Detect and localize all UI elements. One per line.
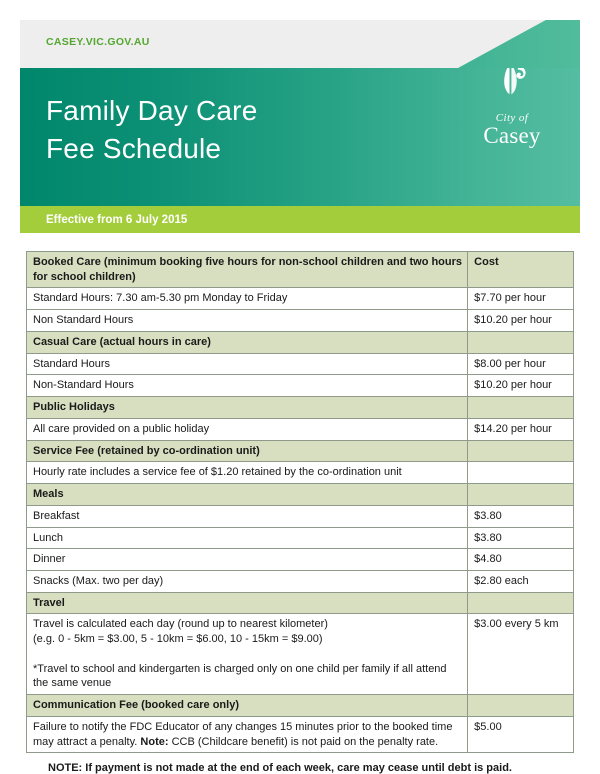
table-row: Standard Hours$8.00 per hour — [27, 353, 574, 375]
fee-table-wrapper: Booked Care (minimum booking five hours … — [20, 233, 580, 753]
table-cell-cost: $4.80 — [468, 549, 574, 571]
table-cell-cost: $7.70 per hour — [468, 288, 574, 310]
effective-date-bar: Effective from 6 July 2015 — [20, 206, 580, 233]
table-row: All care provided on a public holiday$14… — [27, 418, 574, 440]
banner-diagonal-wedge — [458, 20, 580, 68]
table-cell-cost: Cost — [468, 252, 574, 288]
table-section-row: Meals — [27, 484, 574, 506]
table-cell-cost: $10.20 per hour — [468, 375, 574, 397]
table-cell-cost: $10.20 per hour — [468, 310, 574, 332]
table-cell-description: Travel is calculated each day (round up … — [27, 614, 468, 695]
cell-text-part2: CCB (Childcare benefit) is not paid on t… — [169, 736, 439, 748]
table-row: Lunch$3.80 — [27, 527, 574, 549]
table-cell-cost — [468, 484, 574, 506]
table-row: Hourly rate includes a service fee of $1… — [27, 462, 574, 484]
table-cell-cost: $3.80 — [468, 505, 574, 527]
cell-text-note-label: Note: — [140, 736, 168, 748]
table-row: Non Standard Hours$10.20 per hour — [27, 310, 574, 332]
document-page: CASEY.VIC.GOV.AU Family Day Care Fee Sch… — [20, 20, 580, 720]
table-cell-cost — [468, 462, 574, 484]
table-cell-description: Lunch — [27, 527, 468, 549]
table-cell-description: All care provided on a public holiday — [27, 418, 468, 440]
table-row: Breakfast$3.80 — [27, 505, 574, 527]
table-cell-cost — [468, 331, 574, 353]
table-cell-description: Hourly rate includes a service fee of $1… — [27, 462, 468, 484]
footer-note: NOTE: If payment is not made at the end … — [26, 762, 574, 774]
table-row: Travel is calculated each day (round up … — [27, 614, 574, 695]
top-bar: CASEY.VIC.GOV.AU — [20, 20, 580, 68]
table-cell-description: Public Holidays — [27, 397, 468, 419]
table-row: Failure to notify the FDC Educator of an… — [27, 716, 574, 752]
table-section-row: Service Fee (retained by co-ordination u… — [27, 440, 574, 462]
table-cell-cost — [468, 440, 574, 462]
table-section-row: Public Holidays — [27, 397, 574, 419]
table-cell-description: Communication Fee (booked care only) — [27, 695, 468, 717]
table-cell-cost: $2.80 each — [468, 571, 574, 593]
table-cell-cost — [468, 592, 574, 614]
table-section-row: Travel — [27, 592, 574, 614]
table-cell-cost: $3.80 — [468, 527, 574, 549]
table-cell-description: Dinner — [27, 549, 468, 571]
table-cell-description: Booked Care (minimum booking five hours … — [27, 252, 468, 288]
table-cell-cost: $14.20 per hour — [468, 418, 574, 440]
table-cell-cost: $5.00 — [468, 716, 574, 752]
table-cell-description: Non Standard Hours — [27, 310, 468, 332]
fee-schedule-table: Booked Care (minimum booking five hours … — [26, 251, 574, 753]
table-row: Standard Hours: 7.30 am-5.30 pm Monday t… — [27, 288, 574, 310]
table-row: Snacks (Max. two per day)$2.80 each — [27, 571, 574, 593]
page-title: Family Day Care Fee Schedule — [46, 92, 257, 168]
logo-casey-text: Casey — [466, 124, 558, 148]
site-url-label: CASEY.VIC.GOV.AU — [46, 36, 150, 48]
table-cell-description: Standard Hours: 7.30 am-5.30 pm Monday t… — [27, 288, 468, 310]
table-cell-description: Breakfast — [27, 505, 468, 527]
table-cell-description: Casual Care (actual hours in care) — [27, 331, 468, 353]
table-cell-description: Standard Hours — [27, 353, 468, 375]
table-cell-cost: $8.00 per hour — [468, 353, 574, 375]
table-cell-description: Non-Standard Hours — [27, 375, 468, 397]
table-cell-description: Snacks (Max. two per day) — [27, 571, 468, 593]
table-cell-description: Meals — [27, 484, 468, 506]
casey-logo: City of Casey — [466, 68, 558, 148]
casey-leaf-logo-icon — [466, 68, 558, 111]
table-cell-cost: $3.00 every 5 km — [468, 614, 574, 695]
table-cell-description: Failure to notify the FDC Educator of an… — [27, 716, 468, 752]
table-cell-cost — [468, 397, 574, 419]
effective-date-label: Effective from 6 July 2015 — [46, 214, 187, 226]
table-cell-cost — [468, 695, 574, 717]
fee-table-body: Booked Care (minimum booking five hours … — [27, 252, 574, 753]
table-row: Non-Standard Hours$10.20 per hour — [27, 375, 574, 397]
table-section-row: Communication Fee (booked care only) — [27, 695, 574, 717]
table-row: Dinner$4.80 — [27, 549, 574, 571]
table-section-row: Casual Care (actual hours in care) — [27, 331, 574, 353]
table-section-row: Booked Care (minimum booking five hours … — [27, 252, 574, 288]
title-banner: Family Day Care Fee Schedule City of Cas… — [20, 68, 580, 206]
table-cell-description: Service Fee (retained by co-ordination u… — [27, 440, 468, 462]
table-cell-description: Travel — [27, 592, 468, 614]
